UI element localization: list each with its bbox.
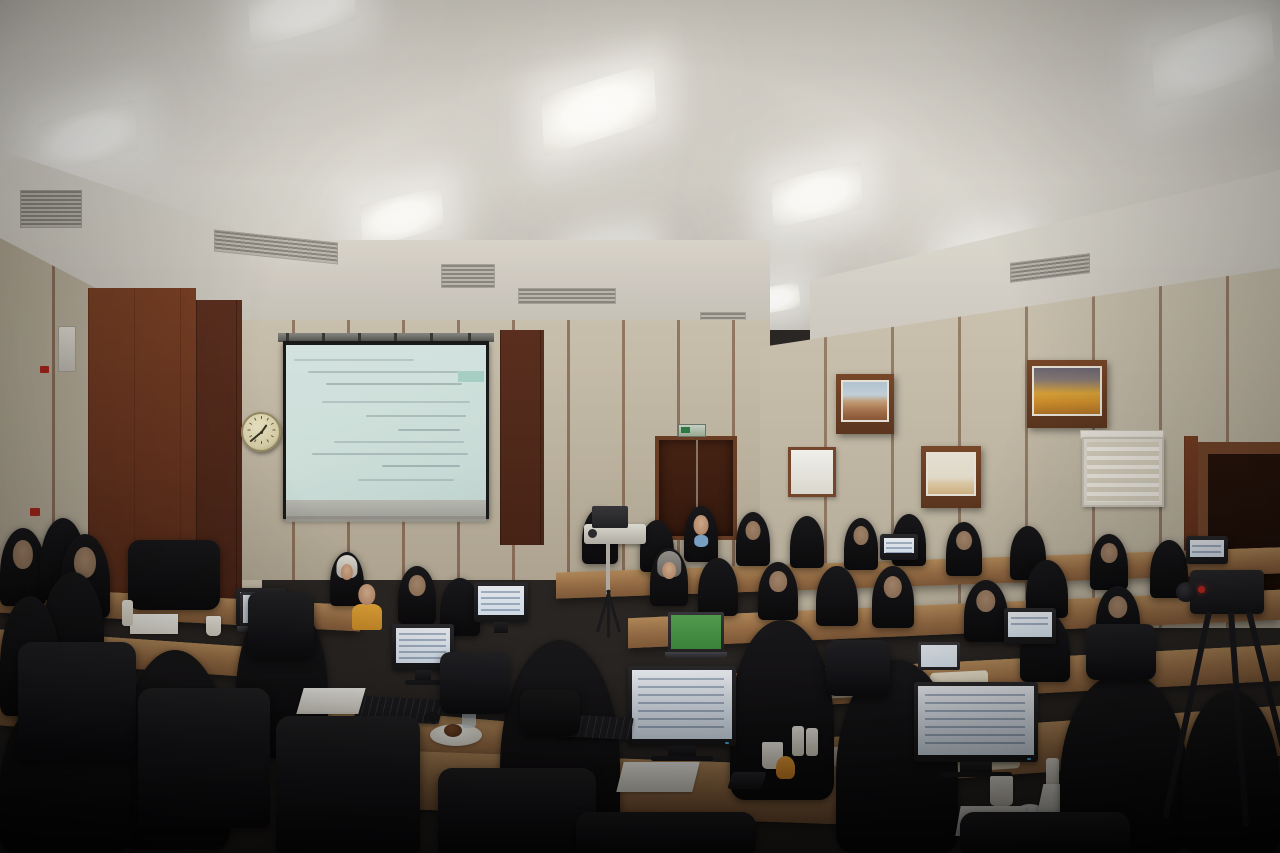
ceiling-vent-4 — [518, 288, 616, 304]
monitor-mid-center — [474, 582, 528, 622]
projection-screen-surface — [286, 345, 486, 516]
office-chair-5[interactable] — [248, 592, 314, 658]
office-chair-8[interactable] — [1086, 624, 1156, 680]
laptop-base — [665, 652, 728, 658]
paper-sheet-left — [296, 688, 365, 714]
projection-text-line — [326, 383, 462, 385]
projection-text-line — [312, 453, 468, 455]
ceiling-vent-1 — [20, 190, 82, 228]
child-in-orange — [352, 584, 382, 630]
juice-bottle — [776, 756, 795, 779]
painting-canvas — [841, 380, 889, 422]
fire-alarm — [40, 366, 49, 373]
ceiling-vent-3 — [441, 264, 495, 288]
monitor-stand — [494, 622, 508, 633]
monitor-screen — [632, 670, 732, 739]
face-mask-icon — [694, 535, 708, 547]
projection-text-line — [294, 359, 414, 361]
exit-sign — [678, 424, 706, 437]
monitor-front-right — [914, 682, 1038, 762]
monitor-base — [405, 680, 441, 685]
projection-text-line — [308, 371, 458, 373]
face — [694, 515, 709, 535]
face — [1101, 543, 1118, 563]
office-chair-3[interactable] — [276, 716, 420, 853]
paper-sheet-center — [616, 762, 699, 792]
face — [769, 571, 787, 592]
monitor-back-right — [1186, 536, 1228, 564]
window-zebra-blind[interactable] — [1082, 437, 1164, 507]
wall-speaker — [58, 326, 76, 372]
laptop-mid-right — [918, 642, 960, 670]
paper-cup-right — [990, 776, 1013, 806]
framed-painting-left — [836, 374, 894, 434]
pastry — [444, 724, 462, 737]
face — [358, 584, 375, 605]
small-bottle-center-2 — [806, 728, 818, 756]
projection-screen-base-shadow — [286, 500, 486, 522]
monitor-screen — [1008, 612, 1052, 637]
projection-text-line — [322, 401, 470, 403]
monitor-front-left — [628, 666, 736, 746]
face — [976, 590, 995, 612]
paper-cup-left — [206, 616, 221, 636]
fire-alarm-lower — [30, 508, 40, 516]
face — [854, 526, 869, 545]
projection-text-line — [398, 429, 460, 431]
office-chair-1[interactable] — [18, 642, 136, 760]
office-chair-4[interactable] — [438, 768, 596, 853]
projection-text-line — [334, 441, 464, 443]
painting-canvas — [926, 452, 976, 496]
face — [746, 521, 761, 540]
small-bottle-center — [792, 726, 804, 756]
wall-clock — [241, 412, 281, 452]
office-chair-6[interactable] — [440, 652, 510, 714]
laptop-green-screen — [668, 612, 724, 652]
mouse-front-left[interactable] — [424, 712, 440, 722]
child-orange-top — [352, 604, 382, 630]
painting-canvas — [1032, 366, 1102, 416]
window-small — [788, 447, 836, 497]
equipment-bag-left — [128, 540, 220, 610]
paper-stack-left — [130, 614, 178, 634]
projector-lens-icon — [588, 529, 597, 538]
projector-control-laptop — [592, 506, 628, 528]
projection-highlight — [458, 371, 484, 382]
video-camera — [1190, 570, 1264, 614]
framed-painting-right — [1027, 360, 1107, 428]
office-chair-10[interactable] — [960, 812, 1130, 853]
laptop-screen — [921, 645, 957, 667]
framed-painting-center — [921, 446, 981, 508]
office-chair-9[interactable] — [576, 812, 756, 853]
smartphone[interactable] — [727, 772, 767, 789]
laptop-screen-green — [671, 615, 721, 649]
exit-sign-glyph — [681, 427, 690, 433]
conference-hall-photo: Tiered lecture hall with rows of women i… — [0, 0, 1280, 853]
monitor-screen — [884, 538, 914, 553]
face — [409, 575, 426, 596]
monitor-row-right-2 — [880, 534, 918, 560]
projection-text-line — [366, 415, 466, 417]
projector-tripod-leg — [607, 590, 610, 638]
record-indicator-icon — [1198, 586, 1205, 593]
laptop-lid — [592, 506, 628, 528]
camera-lens-icon — [1176, 582, 1196, 602]
monitor-screen — [478, 586, 524, 615]
face — [662, 562, 676, 579]
monitor-power-led — [1027, 758, 1031, 760]
face — [1108, 596, 1127, 618]
wood-panel-center-right — [500, 330, 544, 545]
projection-text-line — [358, 479, 454, 481]
projector-stand-post — [606, 544, 610, 594]
office-chair-2[interactable] — [138, 688, 270, 828]
monitor-power-led — [725, 742, 729, 744]
projection-screen — [283, 341, 489, 519]
face — [956, 531, 972, 550]
monitor-screen — [1190, 540, 1224, 557]
monitor-base — [651, 756, 714, 761]
office-chair-7[interactable] — [826, 640, 890, 696]
small-bottle-left — [122, 600, 133, 626]
face — [884, 576, 902, 598]
monitor-screen — [918, 686, 1034, 755]
equipment-bag-center — [520, 690, 580, 736]
monitor-row-right — [1004, 608, 1056, 644]
projection-text-line — [382, 465, 460, 467]
face — [13, 540, 33, 568]
blind-slats — [1087, 442, 1159, 502]
clock-center-pin — [260, 431, 263, 434]
